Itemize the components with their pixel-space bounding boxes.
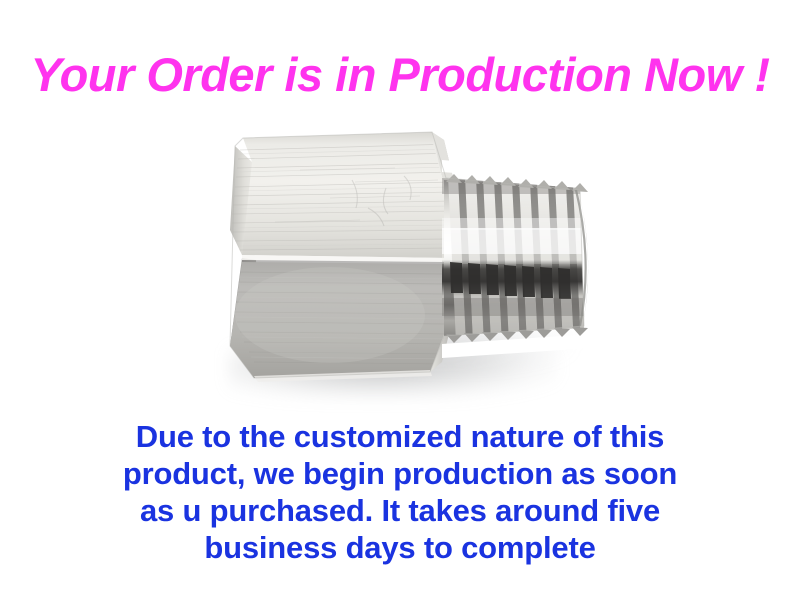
hex-lower-gloss bbox=[235, 267, 425, 363]
thread-profile-bottom bbox=[442, 334, 592, 358]
threaded-shank bbox=[436, 160, 592, 358]
headline-text: Your Order is in Production Now ! bbox=[0, 50, 800, 99]
production-note-line-2: product, we begin production as soon bbox=[0, 455, 800, 492]
promo-poster: Your Order is in Production Now ! bbox=[0, 0, 800, 600]
production-note-text: Due to the customized nature of this pro… bbox=[0, 418, 800, 566]
hex-adapter-fitting-image bbox=[180, 110, 660, 410]
hex-body bbox=[230, 132, 456, 382]
product-image-stage bbox=[180, 110, 660, 410]
production-note-line-1: Due to the customized nature of this bbox=[0, 418, 800, 455]
production-note-line-3: as u purchased. It takes around five bbox=[0, 492, 800, 529]
production-note-line-4: business days to complete bbox=[0, 529, 800, 566]
